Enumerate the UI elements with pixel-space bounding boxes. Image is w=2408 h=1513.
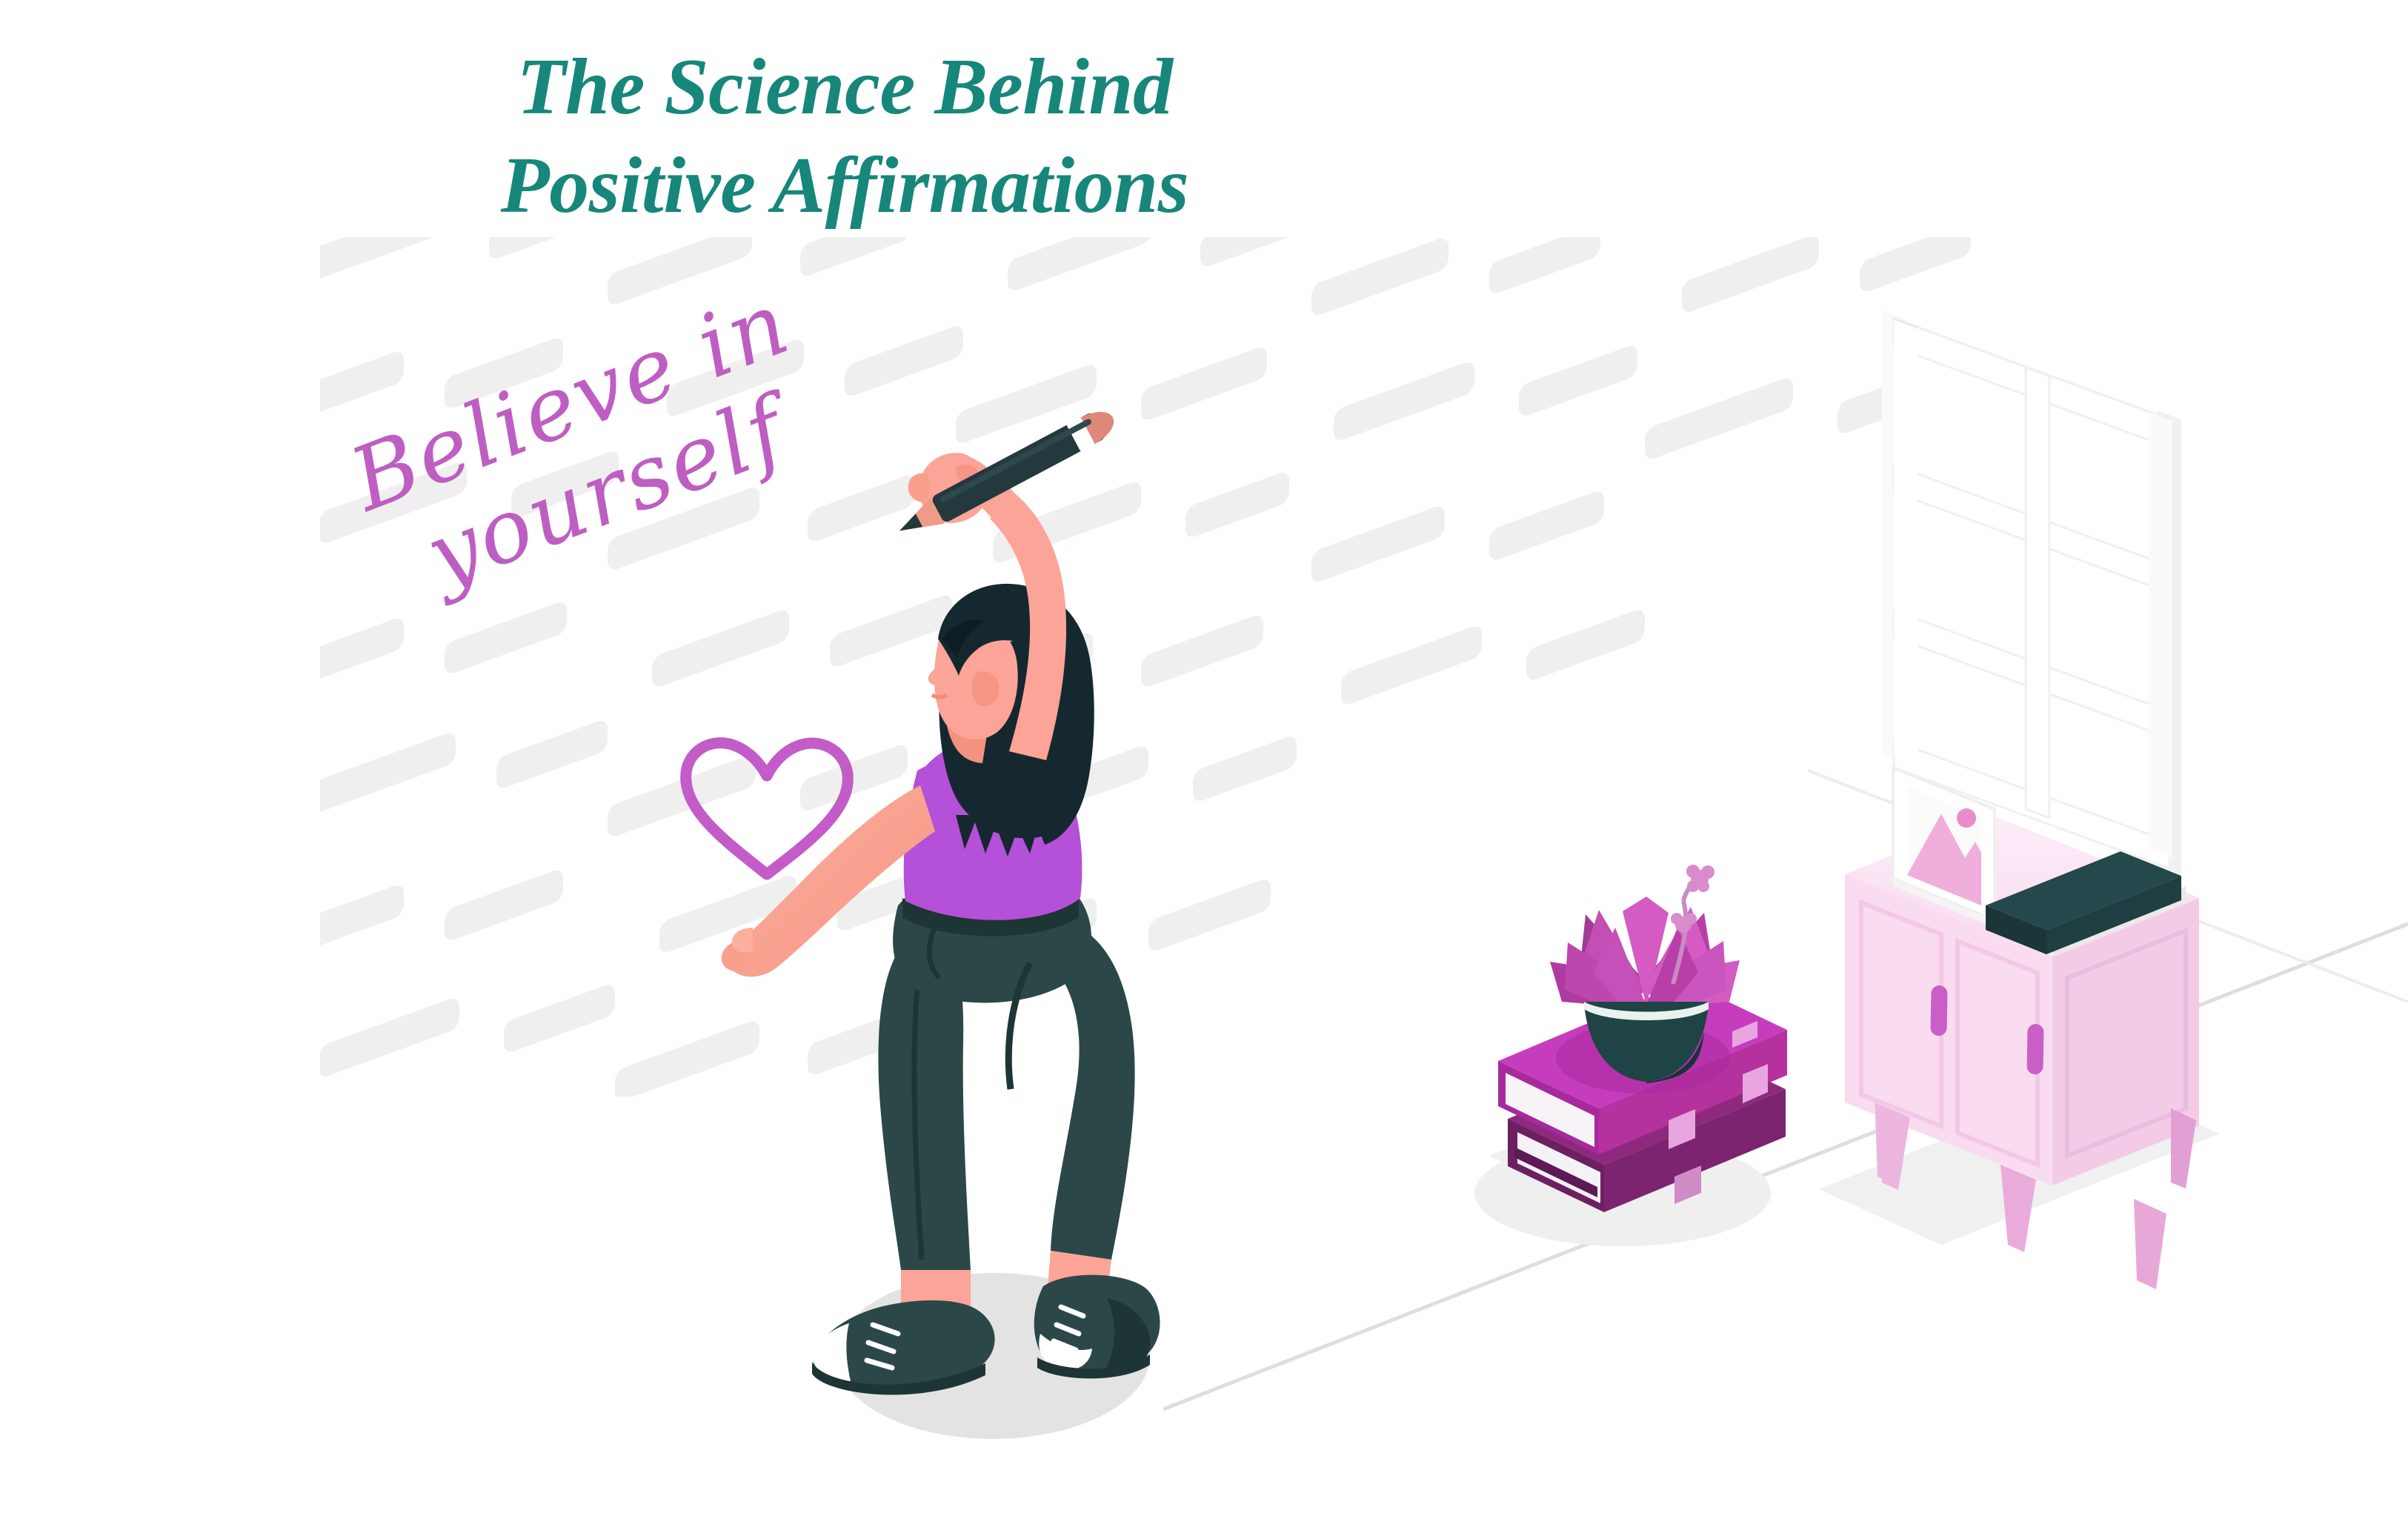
illustration-canvas: Believe in yourself The Science Behind P… — [0, 0, 2408, 1513]
shoe-back — [1034, 1275, 1160, 1379]
heart-outline-icon — [667, 722, 867, 893]
scene-illustration — [0, 0, 2408, 1513]
